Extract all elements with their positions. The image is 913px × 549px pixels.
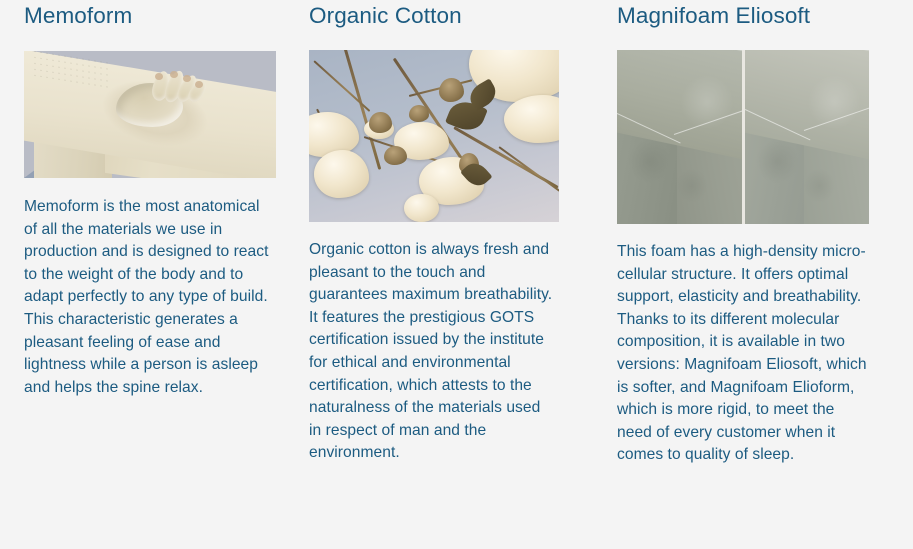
cotton-bud-2 <box>369 112 392 133</box>
memoform-foam-illustration <box>24 51 276 178</box>
material-description-magnifoam-eliosoft: This foam has a high-density micro-cellu… <box>617 241 867 467</box>
material-description-organic-cotton: Organic cotton is always fresh and pleas… <box>309 239 555 465</box>
material-title-memoform: Memoform <box>24 0 289 30</box>
cotton-boll-2 <box>504 95 559 143</box>
cotton-bud-3 <box>409 105 429 122</box>
hand-fingertip-1 <box>155 73 163 80</box>
cotton-field-illustration <box>309 50 559 222</box>
cotton-boll-4 <box>314 150 369 198</box>
material-card-organic-cotton: Organic Cotton <box>303 0 609 465</box>
memoform-foam-image <box>24 51 276 178</box>
magnifoam-eliosoft-image <box>617 50 869 224</box>
organic-cotton-image <box>309 50 559 222</box>
cotton-bud-1 <box>439 78 464 102</box>
block-left-texture <box>617 50 742 224</box>
material-title-organic-cotton: Organic Cotton <box>309 0 595 30</box>
cotton-bud-5 <box>384 146 407 165</box>
material-card-memoform: Memoform <box>0 0 303 399</box>
magnifoam-block-left <box>617 50 742 224</box>
material-description-memoform: Memoform is the most anatomical of all t… <box>24 196 276 399</box>
hand-impression <box>110 69 218 133</box>
hand-fingertip-2 <box>170 71 178 78</box>
materials-grid: Memoform <box>0 0 913 467</box>
cotton-branch-7 <box>498 147 559 193</box>
magnifoam-block-right <box>745 50 870 224</box>
block-right-texture <box>745 50 870 224</box>
hand-fingertip-3 <box>183 75 191 82</box>
material-card-magnifoam-eliosoft: Magnifoam Eliosoft <box>609 0 913 467</box>
cotton-boll-7 <box>404 194 439 222</box>
material-title-magnifoam-eliosoft: Magnifoam Eliosoft <box>617 0 899 30</box>
magnifoam-blocks-illustration <box>617 50 869 224</box>
cotton-branch-2 <box>313 61 370 113</box>
